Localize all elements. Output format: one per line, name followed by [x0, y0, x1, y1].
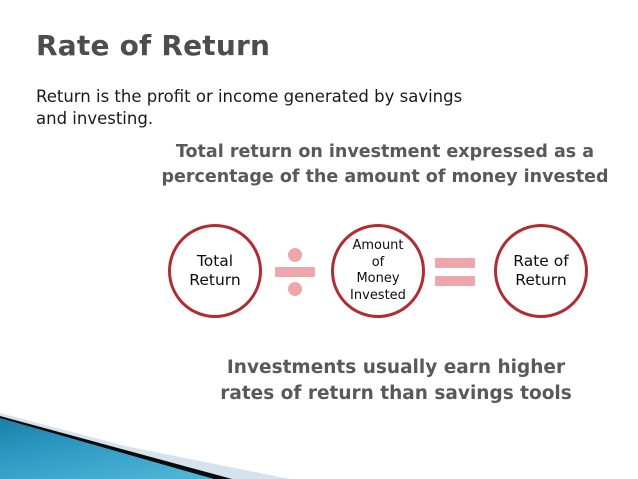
intro-paragraph: Return is the profit or income generated…	[36, 86, 466, 130]
equation-term-total-return-label: Total Return	[185, 252, 244, 290]
divide-icon-bar	[275, 267, 315, 277]
total-return-line-1: Total	[197, 252, 233, 270]
decoration-teal-wedge	[0, 418, 214, 479]
slide-canvas: Rate of Return Return is the profit or i…	[0, 0, 638, 479]
rate-of-return-line-2: Return	[515, 271, 566, 289]
divide-icon-dot-top	[288, 248, 302, 262]
equation-term-total-return: Total Return	[168, 224, 262, 318]
equals-icon	[434, 246, 476, 298]
total-return-line-2: Return	[189, 271, 240, 289]
closing-paragraph: Investments usually earn higher rates of…	[215, 355, 577, 407]
amount-invested-line-1: Amount	[352, 238, 403, 253]
equals-icon-bar-bottom	[435, 276, 475, 286]
equation-term-amount-of-money-invested: Amount of Money Invested	[331, 224, 425, 318]
rate-of-return-equation: Total Return Amount of Money Invested Ra…	[168, 224, 608, 322]
equation-term-amount-of-money-invested-label: Amount of Money Invested	[346, 238, 410, 304]
rate-of-return-line-1: Rate of	[513, 252, 568, 270]
decoration-pale-blue-wedge	[0, 413, 250, 479]
amount-invested-line-3: Money	[356, 271, 399, 286]
equals-icon-bar-top	[435, 258, 475, 268]
amount-invested-line-2: of	[372, 255, 385, 270]
corner-decoration-graphic	[0, 407, 400, 479]
decoration-black-wedge	[0, 416, 232, 479]
amount-invested-line-4: Invested	[350, 288, 406, 303]
divide-icon	[274, 246, 316, 298]
equation-term-rate-of-return-label: Rate of Return	[509, 252, 572, 290]
decoration-pale-blue-wedge-wide	[0, 421, 290, 479]
definition-paragraph: Total return on investment expressed as …	[150, 140, 620, 190]
equation-term-rate-of-return: Rate of Return	[494, 224, 588, 318]
divide-icon-dot-bottom	[288, 282, 302, 296]
page-title: Rate of Return	[36, 29, 270, 62]
